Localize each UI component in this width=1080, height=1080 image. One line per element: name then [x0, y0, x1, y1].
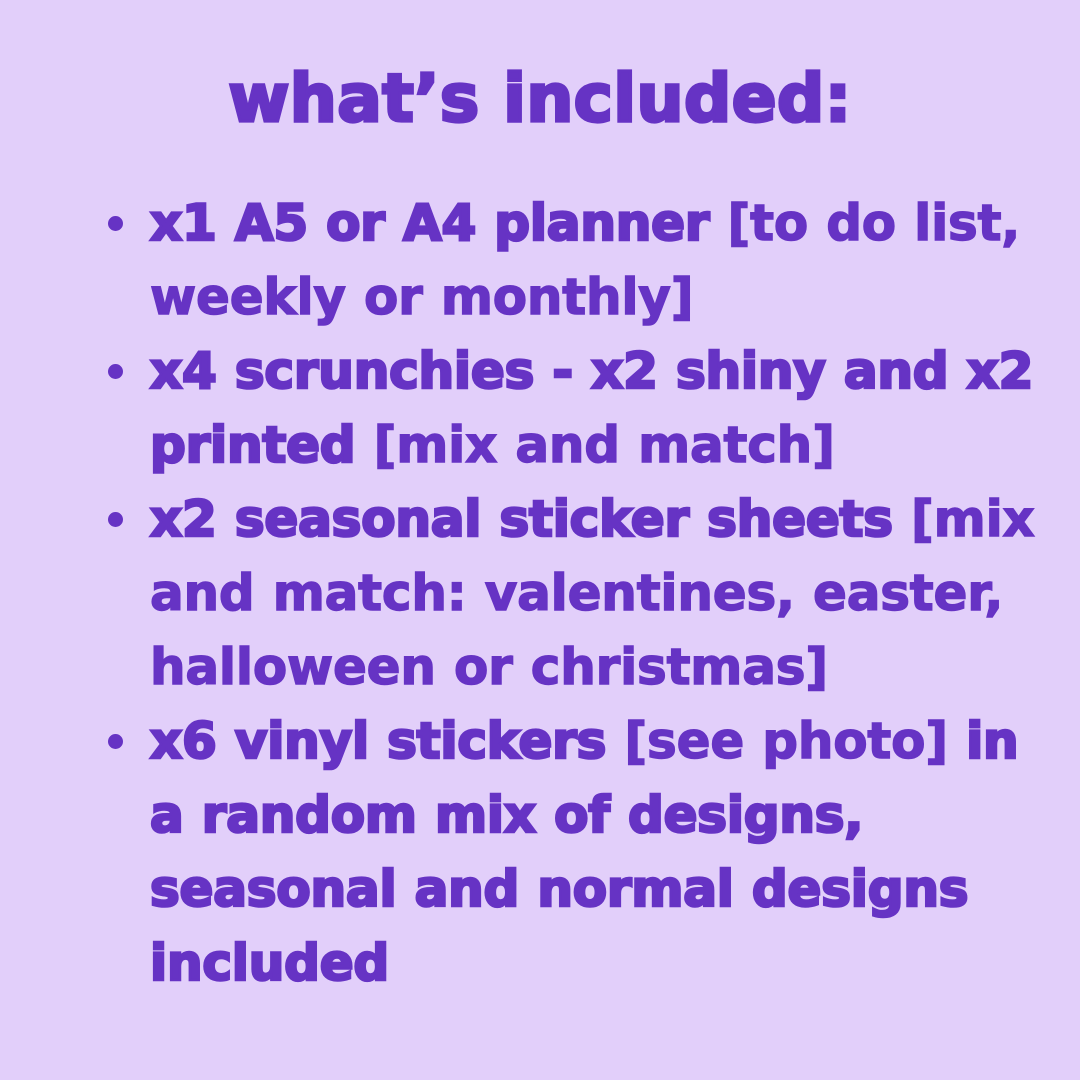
- list-item-label: x6 vinyl stickers [see photo] in a rando…: [150, 704, 1038, 1000]
- page-title: what’s included:: [0, 62, 1080, 136]
- list-item-label: x1 A5 or A4 planner [to do list, weekly …: [150, 186, 1038, 334]
- bracketed-detail: [mix and match: valentines, easter, hall…: [150, 490, 1035, 696]
- product-inclusions-card: what’s included: x1 A5 or A4 planner [to…: [0, 0, 1080, 1080]
- bullet-icon: [108, 216, 123, 231]
- bullet-icon: [108, 364, 123, 379]
- list-item-label: x4 scrunchies - x2 shiny and x2 printed …: [150, 334, 1038, 482]
- list-item: x4 scrunchies - x2 shiny and x2 printed …: [98, 334, 1038, 482]
- bracketed-detail: [see photo]: [624, 712, 947, 770]
- included-items-list: x1 A5 or A4 planner [to do list, weekly …: [98, 186, 1038, 1000]
- list-item: x6 vinyl stickers [see photo] in a rando…: [98, 704, 1038, 1000]
- list-item: x1 A5 or A4 planner [to do list, weekly …: [98, 186, 1038, 334]
- bracketed-detail: [mix and match]: [374, 416, 835, 474]
- list-item: x2 seasonal sticker sheets [mix and matc…: [98, 482, 1038, 704]
- bullet-icon: [108, 734, 123, 749]
- bullet-icon: [108, 512, 123, 527]
- list-item-label: x2 seasonal sticker sheets [mix and matc…: [150, 482, 1038, 704]
- bracketed-detail: [to do list, weekly or monthly]: [150, 194, 1020, 326]
